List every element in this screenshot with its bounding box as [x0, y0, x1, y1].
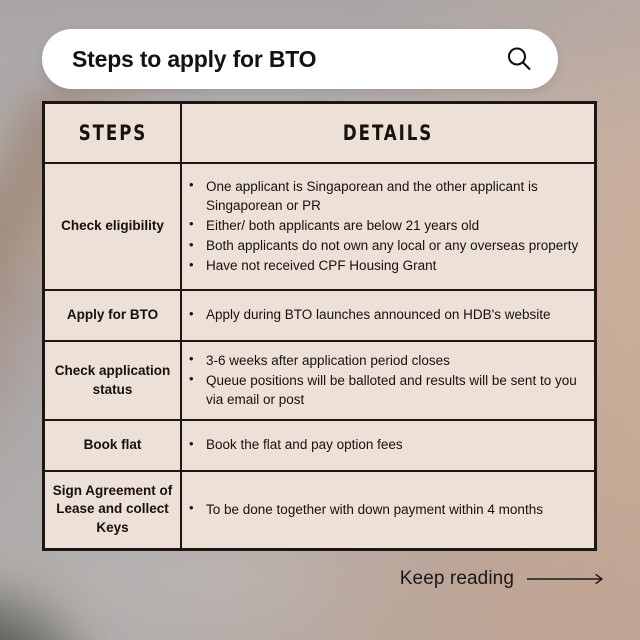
table-row: Book flat Book the flat and pay option f…: [44, 420, 596, 471]
column-header-details: DETAILS: [206, 103, 571, 164]
list-item: Apply during BTO launches announced on H…: [204, 305, 594, 324]
details-list: Apply during BTO launches announced on H…: [182, 305, 594, 324]
page-title: Steps to apply for BTO: [72, 46, 504, 73]
list-item: 3-6 weeks after application period close…: [204, 351, 594, 370]
keep-reading-cta[interactable]: Keep reading: [400, 568, 608, 590]
table-row: Sign Agreement of Lease and collect Keys…: [44, 471, 596, 549]
list-item: Both applicants do not own any local or …: [204, 236, 594, 255]
step-details: Apply during BTO launches announced on H…: [181, 290, 596, 341]
list-item: Book the flat and pay option fees: [204, 435, 594, 454]
details-list: Book the flat and pay option fees: [182, 435, 594, 454]
post-canvas: Steps to apply for BTO STEPS DETAILS Che…: [0, 0, 640, 640]
step-details: Book the flat and pay option fees: [181, 420, 596, 471]
steps-table: STEPS DETAILS Check eligibility One appl…: [42, 101, 597, 551]
list-item: One applicant is Singaporean and the oth…: [204, 177, 594, 215]
step-name: Book flat: [44, 420, 182, 471]
table-row: Check application status 3-6 weeks after…: [44, 341, 596, 420]
step-name: Apply for BTO: [44, 290, 182, 341]
step-name: Check eligibility: [44, 163, 182, 290]
search-bar[interactable]: Steps to apply for BTO: [42, 29, 558, 89]
step-details: 3-6 weeks after application period close…: [181, 341, 596, 420]
list-item: To be done together with down payment wi…: [204, 500, 594, 519]
step-name: Check application status: [44, 341, 182, 420]
list-item: Either/ both applicants are below 21 yea…: [204, 216, 594, 235]
table-row: Check eligibility One applicant is Singa…: [44, 163, 596, 290]
keep-reading-label: Keep reading: [400, 568, 514, 590]
step-details: To be done together with down payment wi…: [181, 471, 596, 549]
step-name: Sign Agreement of Lease and collect Keys: [44, 471, 182, 549]
details-list: 3-6 weeks after application period close…: [182, 351, 594, 409]
list-item: Have not received CPF Housing Grant: [204, 256, 594, 275]
column-header-steps: STEPS: [52, 103, 173, 164]
table-row: Apply for BTO Apply during BTO launches …: [44, 290, 596, 341]
details-list: To be done together with down payment wi…: [182, 500, 594, 519]
right-arrow-icon: [526, 572, 608, 586]
table-header-row: STEPS DETAILS: [44, 103, 596, 164]
search-icon[interactable]: [504, 44, 534, 74]
details-list: One applicant is Singaporean and the oth…: [182, 177, 594, 276]
list-item: Queue positions will be balloted and res…: [204, 371, 594, 409]
step-details: One applicant is Singaporean and the oth…: [181, 163, 596, 290]
